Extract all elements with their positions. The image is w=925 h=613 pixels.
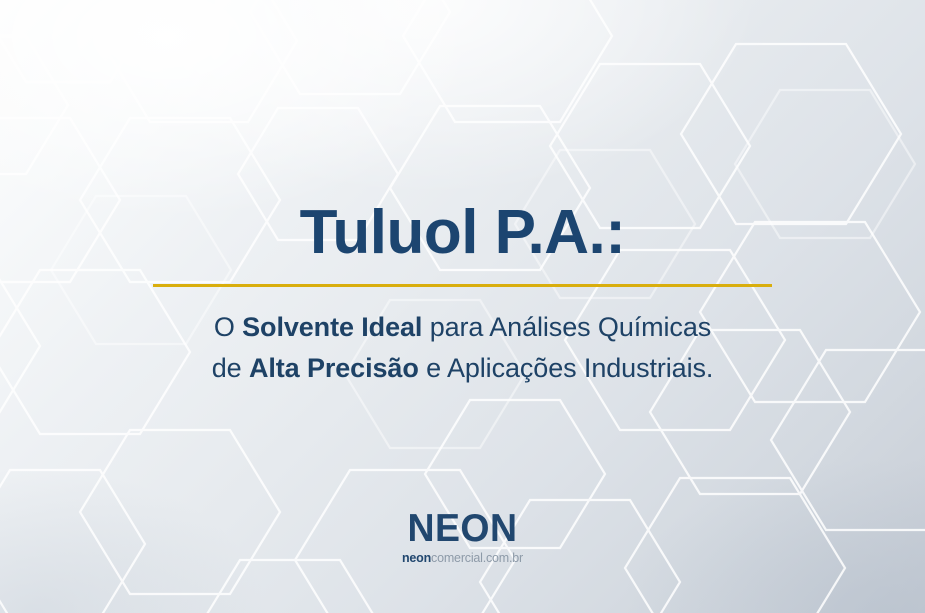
logo-tagline-domain: comercial.com.br <box>431 551 523 565</box>
subtitle-emphasis: Alta Precisão <box>249 353 419 383</box>
subtitle-text: O <box>214 312 242 342</box>
logo-tagline: neoncomercial.com.br <box>0 551 925 565</box>
subtitle-text: para Análises Químicas <box>422 312 711 342</box>
subtitle-emphasis: Solvente Ideal <box>242 312 422 342</box>
neon-logo[interactable]: NEON neoncomercial.com.br <box>0 512 925 565</box>
logo-tagline-brand: neon <box>402 551 431 565</box>
page-title: Tuluol P.A.: <box>0 198 925 268</box>
banner-content: Tuluol P.A.: O Solvente Ideal para Análi… <box>0 0 925 613</box>
subtitle-text: e Aplicações Industriais. <box>419 353 714 383</box>
subtitle-line-2: de Alta Precisão e Aplicações Industriai… <box>0 348 925 389</box>
promotional-banner: Tuluol P.A.: O Solvente Ideal para Análi… <box>0 0 925 613</box>
subtitle-line-1: O Solvente Ideal para Análises Químicas <box>0 307 925 348</box>
gold-divider <box>153 284 772 287</box>
subtitle: O Solvente Ideal para Análises Químicas … <box>0 307 925 389</box>
subtitle-text: de <box>212 353 249 383</box>
logo-wordmark: NEON <box>19 512 907 546</box>
